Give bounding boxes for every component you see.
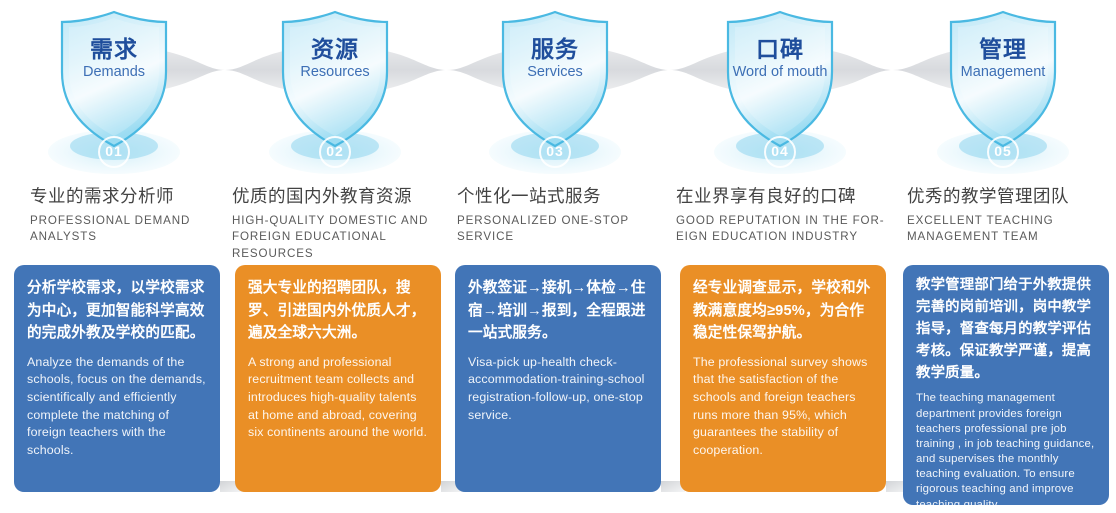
badge-title-cn: 口碑 (672, 38, 888, 61)
heading-en: PROFESSIONAL DEMAND ANALYSTS (30, 213, 238, 246)
infographic-root: 需求 Demands 01 专业的需求分析师 PROFESSIONAL DEMA… (0, 0, 1116, 512)
badge-title-en: Services (447, 64, 663, 80)
panel-text-cn: 教学管理部门给于外教提供完善的岗前培训，岗中教学指导，督查每月的教学评估考核。保… (916, 275, 1096, 384)
badge-number: 05 (895, 143, 1111, 159)
panel-text-en: Visa-pick up-health check-accommodation-… (468, 354, 648, 424)
badge-title-cn: 管理 (895, 38, 1111, 61)
shield-badge[interactable]: 需求 Demands 01 (6, 0, 222, 182)
heading-en: GOOD REPUTATION IN THE FOR-EIGN EDUCATIO… (676, 213, 892, 246)
panel-text-en: A strong and professional recruitment te… (248, 354, 428, 442)
heading-en: EXCELLENT TEACHING MANAGEMENT TEAM (907, 213, 1116, 246)
badge-title-en: Word of mouth (672, 64, 888, 80)
heading-cn: 优质的国内外教育资源 (232, 186, 448, 208)
shield-badge[interactable]: 服务 Services 03 (447, 0, 663, 182)
pillar-column: 资源 Resources 02 优质的国内外教育资源 HIGH-QUALITY … (227, 0, 443, 182)
badge-title-cn: 服务 (447, 38, 663, 61)
column-heading: 优秀的教学管理团队 EXCELLENT TEACHING MANAGEMENT … (895, 186, 1116, 246)
badge-title-cn: 资源 (227, 38, 443, 61)
detail-panel[interactable]: 经专业调查显示，学校和外教满意度均≥95%，为合作稳定性保驾护航。 The pr… (680, 265, 886, 492)
heading-cn: 在业界享有良好的口碑 (676, 186, 892, 208)
detail-panel[interactable]: 分析学校需求，以学校需求为中心，更加智能科学高效的完成外教及学校的匹配。 Ana… (14, 265, 220, 492)
heading-en: HIGH-QUALITY DOMESTIC AND FOREIGN EDUCAT… (232, 213, 448, 262)
panel-text-en: The professional survey shows that the s… (693, 354, 873, 460)
column-heading: 个性化一站式服务 PERSONALIZED ONE-STOP SERVICE (447, 186, 673, 246)
pillar-column: 服务 Services 03 个性化一站式服务 PERSONALIZED ONE… (447, 0, 663, 182)
detail-panel[interactable]: 教学管理部门给于外教提供完善的岗前培训，岗中教学指导，督查每月的教学评估考核。保… (903, 265, 1109, 505)
pillar-column: 需求 Demands 01 专业的需求分析师 PROFESSIONAL DEMA… (6, 0, 222, 182)
badge-number: 01 (6, 143, 222, 159)
column-heading: 专业的需求分析师 PROFESSIONAL DEMAND ANALYSTS (14, 186, 238, 246)
heading-cn: 优秀的教学管理团队 (907, 186, 1116, 208)
heading-en: PERSONALIZED ONE-STOP SERVICE (457, 213, 673, 246)
detail-panel[interactable]: 强大专业的招聘团队，搜罗、引进国内外优质人才，遍及全球六大洲。 A strong… (235, 265, 441, 492)
column-heading: 在业界享有良好的口碑 GOOD REPUTATION IN THE FOR-EI… (672, 186, 892, 246)
badge-number: 04 (672, 143, 888, 159)
heading-cn: 专业的需求分析师 (30, 186, 238, 208)
panel-text-cn: 分析学校需求，以学校需求为中心，更加智能科学高效的完成外教及学校的匹配。 (27, 277, 207, 345)
panel-text-cn: 强大专业的招聘团队，搜罗、引进国内外优质人才，遍及全球六大洲。 (248, 277, 428, 345)
pillar-column: 管理 Management 05 优秀的教学管理团队 EXCELLENT TEA… (895, 0, 1111, 182)
panel-text-cn: 经专业调查显示，学校和外教满意度均≥95%，为合作稳定性保驾护航。 (693, 277, 873, 345)
badge-number: 03 (447, 143, 663, 159)
badge-title-cn: 需求 (6, 38, 222, 61)
badge-number: 02 (227, 143, 443, 159)
pillar-column: 口碑 Word of mouth 04 在业界享有良好的口碑 GOOD REPU… (672, 0, 888, 182)
panel-text-en: The teaching management department provi… (916, 391, 1096, 512)
badge-title-en: Resources (227, 64, 443, 80)
shield-badge[interactable]: 口碑 Word of mouth 04 (672, 0, 888, 182)
detail-panel[interactable]: 外教签证→接机→体检→住宿→培训→报到，全程跟进一站式服务。 Visa-pick… (455, 265, 661, 492)
shield-badge[interactable]: 管理 Management 05 (895, 0, 1111, 182)
heading-cn: 个性化一站式服务 (457, 186, 673, 208)
shield-badge[interactable]: 资源 Resources 02 (227, 0, 443, 182)
badge-title-en: Demands (6, 64, 222, 80)
panel-text-en: Analyze the demands of the schools, focu… (27, 354, 207, 460)
column-heading: 优质的国内外教育资源 HIGH-QUALITY DOMESTIC AND FOR… (227, 186, 448, 262)
badge-title-en: Management (895, 64, 1111, 80)
panel-text-cn: 外教签证→接机→体检→住宿→培训→报到，全程跟进一站式服务。 (468, 277, 648, 345)
